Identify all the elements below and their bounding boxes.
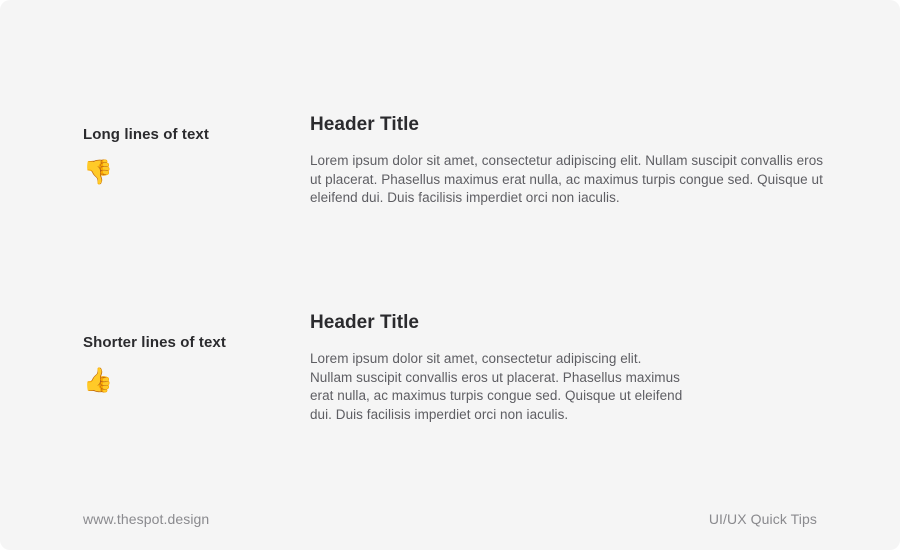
content-column-short: Header Title Lorem ipsum dolor sit amet,… [310,310,686,424]
footer-series-title: UI/UX Quick Tips [709,509,817,529]
thumbs-up-icon: 👍 [83,367,310,395]
slide-canvas: Long lines of text 👎 Header Title Lorem … [0,0,900,550]
label-column-short: Shorter lines of text 👍 [83,310,310,395]
comparison-block-short-lines: Shorter lines of text 👍 Header Title Lor… [83,310,686,424]
body-paragraph-long: Lorem ipsum dolor sit amet, consectetur … [310,152,825,208]
label-column-long: Long lines of text 👎 [83,112,310,187]
comparison-label-long: Long lines of text [83,125,310,145]
comparison-label-short: Shorter lines of text [83,333,310,353]
header-title-long: Header Title [310,112,825,138]
comparison-block-long-lines: Long lines of text 👎 Header Title Lorem … [83,112,825,208]
header-title-short: Header Title [310,310,686,336]
content-column-long: Header Title Lorem ipsum dolor sit amet,… [310,112,825,208]
body-paragraph-short: Lorem ipsum dolor sit amet, consectetur … [310,350,686,424]
thumbs-down-icon: 👎 [83,159,310,187]
footer: www.thespot.design UI/UX Quick Tips [83,509,817,529]
footer-website[interactable]: www.thespot.design [83,509,209,529]
